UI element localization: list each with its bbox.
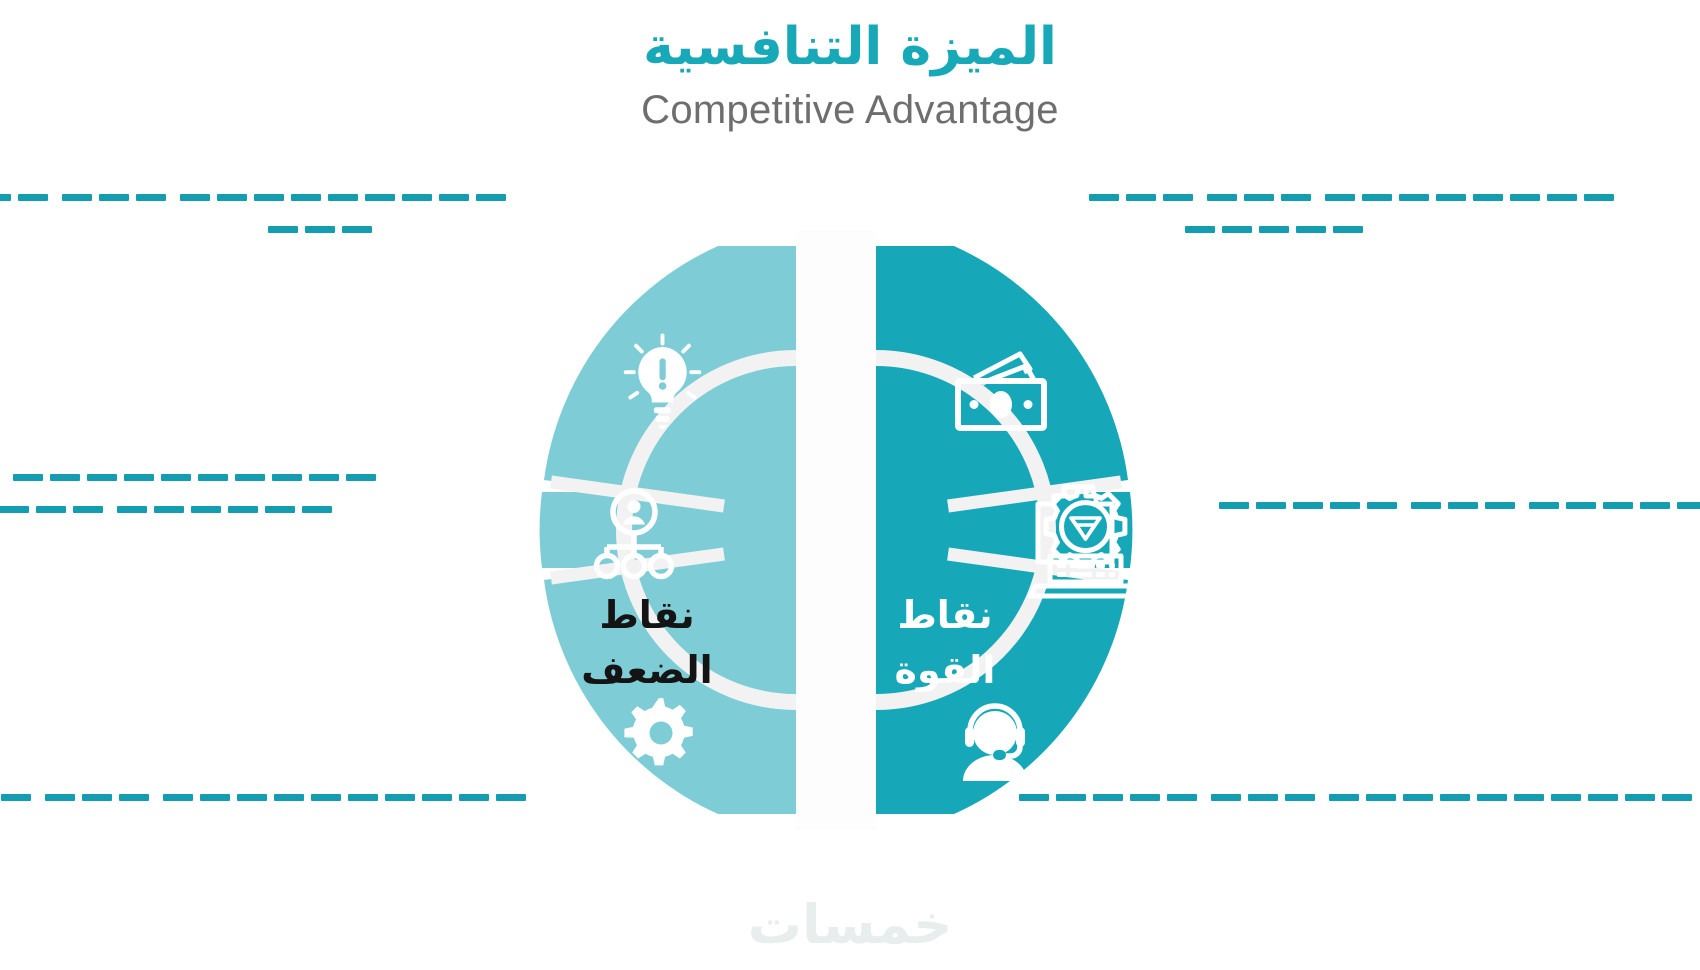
- dash-group: [163, 794, 526, 801]
- watermark: خمسات: [0, 893, 1700, 956]
- center-gutter: [796, 230, 876, 830]
- placeholder-row: [1075, 222, 1495, 236]
- placeholder-right-bottom: [1005, 790, 1425, 822]
- support-headset-icon: [963, 706, 1027, 781]
- left-half-weaknesses: [540, 246, 818, 814]
- placeholder-row: [1075, 190, 1495, 204]
- left-ring-edge-top: [718, 246, 796, 366]
- placeholder-row: [1005, 790, 1425, 804]
- placeholder-right-middle: [1205, 498, 1700, 530]
- dash-group: [13, 474, 376, 481]
- dash-group: [1529, 502, 1700, 509]
- placeholder-row: [1205, 498, 1700, 512]
- placeholder-right-top: [1075, 190, 1495, 254]
- placeholder-row: [120, 190, 520, 204]
- dash-group: [117, 506, 332, 513]
- dash-group: [1207, 194, 1311, 201]
- dash-group: [62, 194, 166, 201]
- dash-group: [1411, 502, 1515, 509]
- dash-group: [1219, 502, 1397, 509]
- placeholder-left-middle: [0, 470, 390, 534]
- dash-group: [268, 226, 372, 233]
- dash-group: [0, 794, 31, 801]
- dash-group: [45, 794, 149, 801]
- dash-group: [1089, 194, 1193, 201]
- dash-group: [1211, 794, 1315, 801]
- dash-group: [180, 194, 506, 201]
- page-header: الميزة التنافسية Competitive Advantage: [0, 0, 1700, 133]
- placeholder-row: [0, 502, 390, 516]
- page-title-english: Competitive Advantage: [0, 88, 1700, 133]
- right-ring-edge-top: [876, 246, 954, 366]
- dash-group: [1325, 194, 1614, 201]
- dash-group: [1329, 794, 1692, 801]
- placeholder-left-bottom: [130, 790, 540, 822]
- center-label-strengths: نقاط القوة: [860, 588, 1030, 698]
- placeholder-row: [0, 470, 390, 484]
- diagram-stage: نقاط الضعف نقاط القوة: [0, 150, 1700, 890]
- dash-group: [1185, 226, 1363, 233]
- right-half-strengths: [796, 230, 1141, 830]
- competitive-advantage-wheel: [386, 190, 1286, 870]
- dash-group: [0, 506, 103, 513]
- left-ring-edge-bottom: [718, 694, 796, 814]
- dash-group: [1019, 794, 1197, 801]
- right-ring-edge-bottom: [876, 694, 954, 814]
- placeholder-row: [130, 790, 540, 804]
- dash-group: [0, 194, 48, 201]
- placeholder-row: [120, 222, 520, 236]
- center-label-weaknesses: نقاط الضعف: [562, 588, 732, 698]
- page-title-arabic: الميزة التنافسية: [0, 18, 1700, 78]
- placeholder-left-top: [120, 190, 520, 254]
